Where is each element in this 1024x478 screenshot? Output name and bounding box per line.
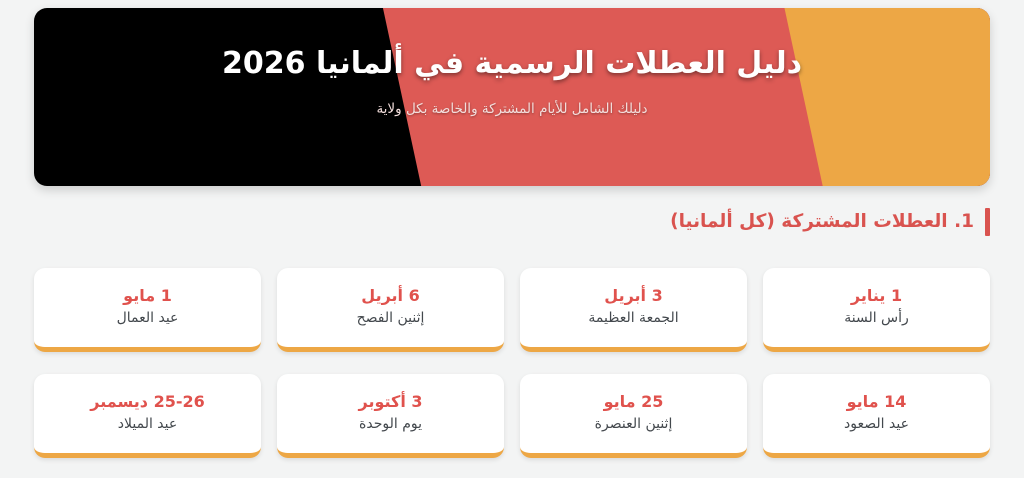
holiday-name: إثنين الفصح [357,308,425,328]
section-title: 1. العطلات المشتركة (كل ألمانيا) [670,213,974,232]
holiday-date: 1 مايو [123,285,172,307]
holiday-name: يوم الوحدة [359,414,422,434]
holiday-date: 14 مايو [847,391,907,413]
holiday-name: الجمعة العظيمة [588,308,678,328]
hero-flag-background: دليل العطلات الرسمية في ألمانيا 2026 دلي… [34,8,990,186]
page-subtitle: دليلك الشامل للأيام المشتركة والخاصة بكل… [376,101,647,117]
holiday-name: رأس السنة [844,308,909,328]
holiday-date: 6 أبريل [361,285,419,307]
holiday-card[interactable]: 14 مايو عيد الصعود [763,374,990,458]
holiday-card[interactable]: 1 مايو عيد العمال [34,268,261,352]
holiday-name: إثنين العنصرة [595,414,673,434]
section-common-holidays: 1. العطلات المشتركة (كل ألمانيا) [34,206,990,238]
holiday-date: 3 أبريل [604,285,662,307]
holiday-card[interactable]: 25-26 ديسمبر عيد الميلاد [34,374,261,458]
section-heading: 1. العطلات المشتركة (كل ألمانيا) [34,206,990,238]
holiday-name: عيد العمال [117,308,179,328]
holiday-name: عيد الميلاد [118,414,177,434]
holiday-date: 1 يناير [851,285,902,307]
holiday-date: 25-26 ديسمبر [90,391,204,413]
hero-text-block: دليل العطلات الرسمية في ألمانيا 2026 دلي… [34,8,990,186]
holiday-card[interactable]: 3 أكتوبر يوم الوحدة [277,374,504,458]
holiday-date: 25 مايو [604,391,664,413]
holiday-name: عيد الصعود [844,414,909,434]
holiday-card[interactable]: 1 يناير رأس السنة [763,268,990,352]
holiday-date: 3 أكتوبر [358,391,422,413]
holiday-card[interactable]: 25 مايو إثنين العنصرة [520,374,747,458]
section-accent-bar [985,208,990,236]
holiday-cards-grid: 1 يناير رأس السنة 3 أبريل الجمعة العظيمة… [34,268,990,458]
hero-banner: دليل العطلات الرسمية في ألمانيا 2026 دلي… [34,8,990,186]
holiday-card[interactable]: 6 أبريل إثنين الفصح [277,268,504,352]
page-title: دليل العطلات الرسمية في ألمانيا 2026 [222,44,802,83]
holiday-card[interactable]: 3 أبريل الجمعة العظيمة [520,268,747,352]
